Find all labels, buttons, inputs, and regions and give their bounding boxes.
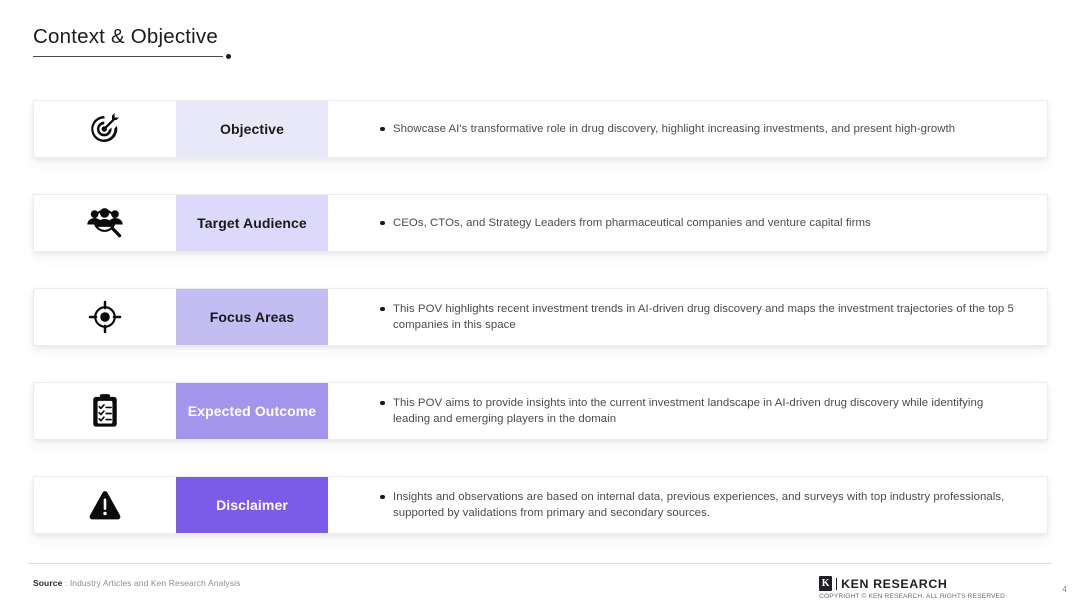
row-label-3[interactable]: Focus Areas [176, 289, 328, 345]
row-card[interactable]: Focus AreasThis POV highlights recent in… [33, 288, 1048, 346]
row-disclaimer: DisclaimerInsights and observations are … [0, 476, 1080, 534]
row-target-audience: Target AudienceCEOs, CTOs, and Strategy … [0, 194, 1080, 252]
clipboard-checklist-icon [34, 383, 176, 439]
footer-divider [28, 563, 1052, 564]
row-label-5[interactable]: Disclaimer [176, 477, 328, 533]
copyright-text: COPYRIGHT © KEN RESEARCH. ALL RIGHTS RES… [819, 593, 1005, 600]
row-description-cell: This POV highlights recent investment tr… [328, 289, 1047, 345]
page-number: 4 [1062, 584, 1067, 594]
audience-people-search-icon [34, 195, 176, 251]
row-description-bullet: This POV aims to provide insights into t… [380, 395, 1021, 428]
row-card[interactable]: ObjectiveShowcase AI's transformative ro… [33, 100, 1048, 158]
target-dartboard-icon [34, 101, 176, 157]
row-description-bullet: Showcase AI's transformative role in dru… [380, 121, 955, 137]
ken-research-logo-icon: K [819, 576, 832, 591]
slide-header: Context & Objective [33, 24, 453, 57]
row-label-2[interactable]: Target Audience [176, 195, 328, 251]
brand-lockup: K KEN RESEARCH COPYRIGHT © KEN RESEARCH.… [819, 576, 1005, 600]
row-focus-areas: Focus AreasThis POV highlights recent in… [0, 288, 1080, 346]
brand-name: KEN RESEARCH [841, 577, 947, 591]
brand-divider-icon [836, 578, 837, 590]
row-description-cell: Insights and observations are based on i… [328, 477, 1047, 533]
row-label-4[interactable]: Expected Outcome [176, 383, 328, 439]
source-separator: : [62, 578, 69, 588]
brand-row: K KEN RESEARCH [819, 576, 1005, 591]
page-title: Context & Objective [33, 24, 453, 50]
source-text: Industry Articles and Ken Research Analy… [70, 578, 241, 588]
row-description-bullet: Insights and observations are based on i… [380, 489, 1021, 522]
row-card[interactable]: DisclaimerInsights and observations are … [33, 476, 1048, 534]
row-description-bullet: CEOs, CTOs, and Strategy Leaders from ph… [380, 215, 871, 231]
row-description-cell: This POV aims to provide insights into t… [328, 383, 1047, 439]
row-description-cell: CEOs, CTOs, and Strategy Leaders from ph… [328, 195, 1047, 251]
title-underline-dot [226, 54, 231, 59]
row-expected-outcome: Expected OutcomeThis POV aims to provide… [0, 382, 1080, 440]
source-note: Source : Industry Articles and Ken Resea… [33, 578, 240, 588]
row-card[interactable]: Expected OutcomeThis POV aims to provide… [33, 382, 1048, 440]
row-objective: ObjectiveShowcase AI's transformative ro… [0, 100, 1080, 158]
crosshair-focus-icon [34, 289, 176, 345]
row-description-bullet: This POV highlights recent investment tr… [380, 301, 1021, 334]
row-card[interactable]: Target AudienceCEOs, CTOs, and Strategy … [33, 194, 1048, 252]
source-label: Source [33, 578, 62, 588]
context-objective-rows: ObjectiveShowcase AI's transformative ro… [0, 100, 1080, 534]
warning-triangle-icon [34, 477, 176, 533]
row-description-cell: Showcase AI's transformative role in dru… [328, 101, 1047, 157]
title-underline [33, 56, 223, 57]
row-label-1[interactable]: Objective [176, 101, 328, 157]
